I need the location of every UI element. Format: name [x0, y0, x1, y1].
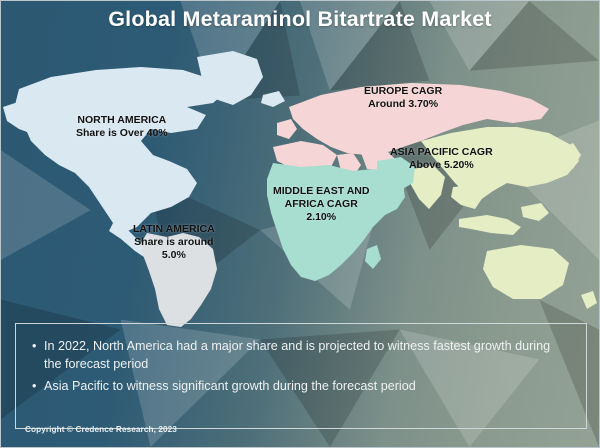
label-region-name-2: AFRICA CAGR	[273, 198, 369, 211]
list-item-text: Asia Pacific to witness significant grow…	[44, 378, 570, 396]
insights-box: • In 2022, North America had a major sha…	[15, 323, 587, 429]
label-region-value: Around 3.70%	[364, 98, 442, 111]
infographic-slide: Global Metaraminol Bitartrate Market	[0, 0, 600, 448]
label-region-value-2: 5.0%	[133, 249, 215, 262]
bullet-icon: •	[32, 378, 44, 396]
map-label-latin-america: LATIN AMERICA Share is around 5.0%	[133, 223, 215, 262]
list-item: • In 2022, North America had a major sha…	[32, 338, 570, 374]
label-region-name: EUROPE CAGR	[364, 85, 442, 98]
label-region-value: Share is around	[133, 236, 215, 249]
list-item: • Asia Pacific to witness significant gr…	[32, 378, 570, 396]
map-label-middle-east-africa: MIDDLE EAST AND AFRICA CAGR 2.10%	[273, 185, 369, 224]
label-region-name: ASIA PACIFIC CAGR	[390, 146, 493, 159]
list-item-text: In 2022, North America had a major share…	[44, 338, 570, 374]
world-map	[1, 37, 600, 327]
copyright-footer: Copyright © Credence Research, 2023	[25, 425, 177, 434]
label-region-name: LATIN AMERICA	[133, 223, 215, 236]
map-label-north-america: NORTH AMERICA Share is Over 40%	[76, 114, 168, 140]
page-title: Global Metaraminol Bitartrate Market	[1, 7, 599, 32]
map-label-asia-pacific: ASIA PACIFIC CAGR Above 5.20%	[390, 146, 493, 172]
label-region-value: Above 5.20%	[390, 159, 493, 172]
label-region-value: 2.10%	[273, 211, 369, 224]
map-label-europe: EUROPE CAGR Around 3.70%	[364, 85, 442, 111]
label-region-name: MIDDLE EAST AND	[273, 185, 369, 198]
label-region-value: Share is Over 40%	[76, 127, 168, 140]
label-region-name: NORTH AMERICA	[76, 114, 168, 127]
bullet-icon: •	[32, 338, 44, 374]
